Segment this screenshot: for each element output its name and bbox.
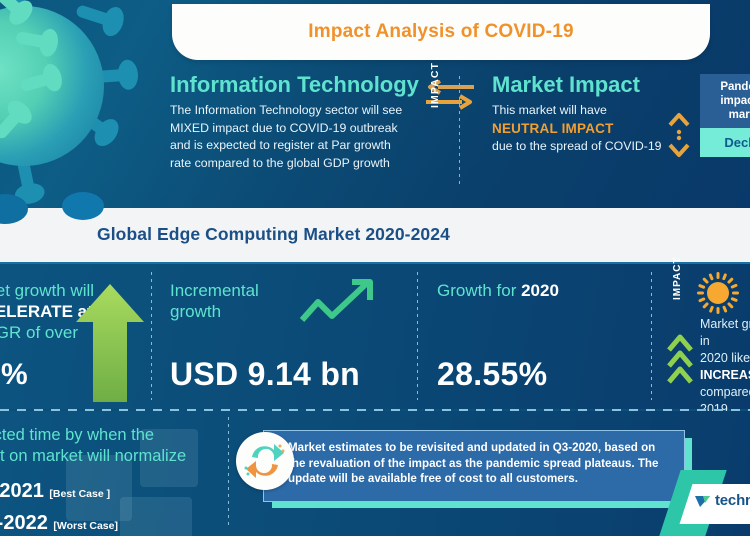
yoy-impact-vertical-label: IMPACT bbox=[672, 256, 683, 300]
header-title-pill: Impact Analysis of COVID-19 bbox=[172, 4, 710, 60]
up-arrow-icon bbox=[74, 282, 146, 404]
logo-mark-icon bbox=[694, 493, 712, 509]
double-chevron-up-icon bbox=[666, 328, 694, 386]
stats-divider bbox=[151, 272, 152, 400]
infographic-root: Impact Analysis of COVID-19 Information … bbox=[0, 0, 750, 536]
updown-arrows-icon bbox=[666, 112, 692, 158]
sector-body: The Information Technology sector will s… bbox=[170, 102, 410, 172]
logo-text: technavio bbox=[715, 492, 750, 509]
decorative-blob bbox=[62, 192, 104, 220]
report-title: Global Edge Computing Market 2020-2024 bbox=[97, 224, 450, 245]
growth2020-label: Growth for 2020 bbox=[437, 280, 637, 301]
incremental-value: USD 9.14 bn bbox=[170, 356, 360, 393]
pandemic-card-head: Pandemic impact on market bbox=[700, 74, 750, 128]
impact-vertical-label: IMPACT bbox=[429, 62, 441, 108]
market-impact-highlight: NEUTRAL IMPACT bbox=[492, 121, 614, 136]
market-impact-line2: due to the spread of COVID-19 bbox=[492, 138, 667, 156]
callout-text: Market estimates to be revisited and upd… bbox=[264, 431, 684, 487]
market-impact-line1: This market will have bbox=[492, 102, 667, 120]
market-impact-column: Market Impact This market will have NEUT… bbox=[492, 72, 667, 156]
incremental-label: Incremental growth bbox=[170, 280, 310, 322]
normalize-line1: Expected time by when the bbox=[0, 425, 154, 446]
page-title: Impact Analysis of COVID-19 bbox=[172, 4, 710, 60]
cagr-value: 7% bbox=[0, 358, 28, 392]
sector-column: Information Technology The Information T… bbox=[170, 72, 410, 172]
pandemic-card-body: Decline bbox=[700, 128, 750, 157]
refresh-cycle-icon bbox=[236, 432, 294, 490]
brand-logo[interactable]: technavio bbox=[694, 492, 750, 509]
worst-case-row: Q1-2022 [Worst Case] bbox=[0, 512, 118, 535]
stats-divider bbox=[417, 272, 418, 400]
callout-box: Market estimates to be revisited and upd… bbox=[263, 430, 685, 502]
normalize-line2: impact on market will normalize bbox=[0, 446, 186, 467]
virus-spike bbox=[75, 4, 117, 28]
pandemic-impact-card: Pandemic impact on market Decline bbox=[700, 74, 750, 157]
sector-heading: Information Technology bbox=[170, 72, 410, 98]
report-title-band: Global Edge Computing Market 2020-2024 bbox=[0, 208, 750, 264]
yoy-impact-text: Market growth in 2020 likely to INCREASE… bbox=[700, 316, 750, 418]
decorative-puzzle-piece bbox=[120, 497, 192, 536]
market-impact-heading: Market Impact bbox=[492, 72, 667, 98]
virus-sunburst-icon bbox=[697, 272, 739, 314]
bottom-divider bbox=[228, 417, 229, 529]
stats-divider bbox=[651, 272, 652, 400]
growth2020-value: 28.55% bbox=[437, 356, 547, 393]
top-impact-panel: Impact Analysis of COVID-19 Information … bbox=[0, 0, 750, 208]
best-case-row: Q3-2021 [Best Case ] bbox=[0, 480, 110, 503]
coronavirus-illustration bbox=[0, 0, 144, 206]
trend-up-chart-icon bbox=[300, 278, 380, 328]
